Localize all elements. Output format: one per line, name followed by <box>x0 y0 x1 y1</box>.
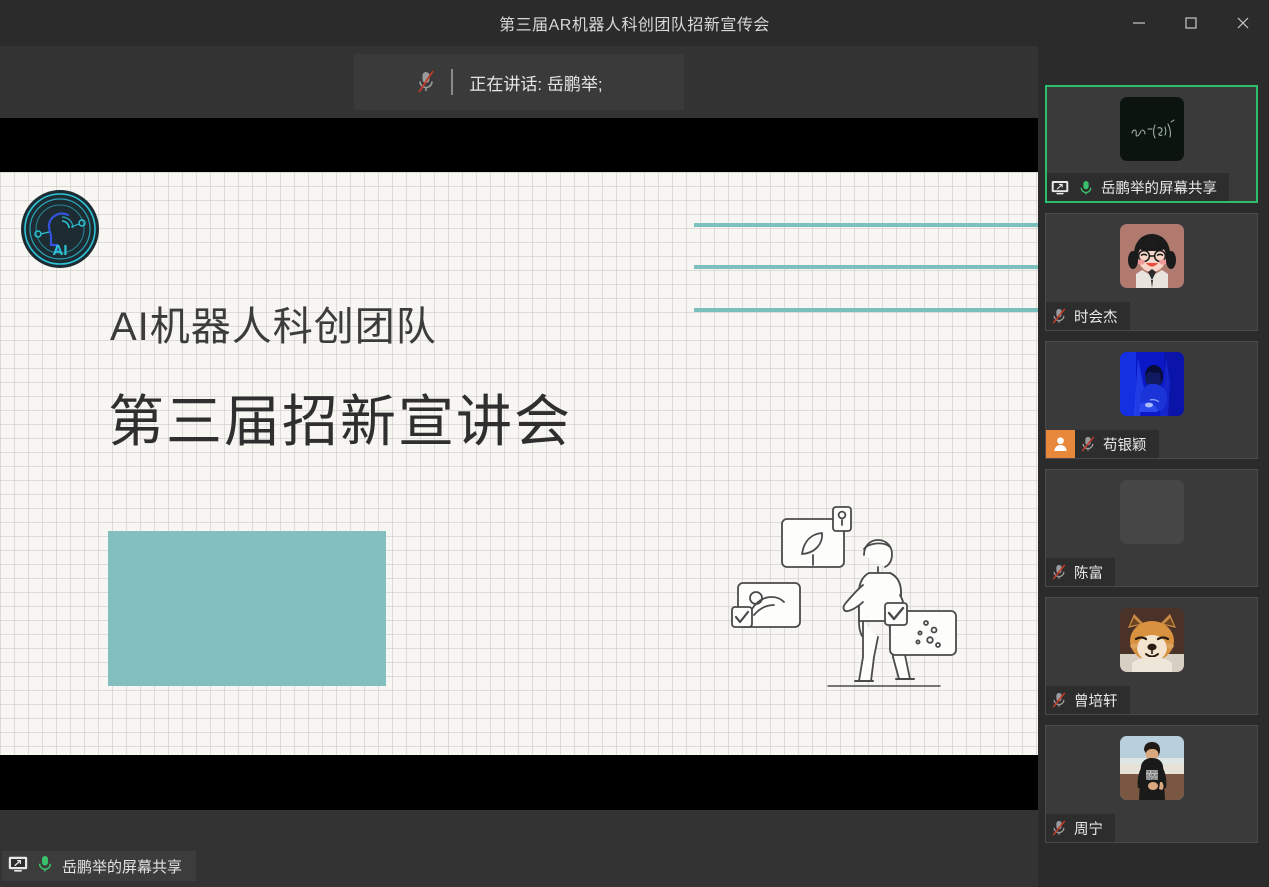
svg-text:SPEAKS: SPEAKS <box>1145 777 1159 781</box>
participant-label: 曾培轩 <box>1046 686 1130 714</box>
participant-name: 岳鹏举的屏幕共享 <box>1099 177 1217 198</box>
participant-tile-4[interactable]: 陈富 <box>1045 469 1258 587</box>
participant-tile-3[interactable]: 苟银颖 <box>1045 341 1258 459</box>
minimize-icon <box>1132 16 1146 30</box>
host-badge-icon <box>1046 430 1075 458</box>
logo-text: AI <box>53 242 68 259</box>
cartoon-girl-avatar-icon <box>1120 224 1184 288</box>
shared-screen-stage[interactable]: AI AI机器人科创团队 第三届招新宣讲会 <box>0 118 1038 810</box>
screen-share-icon <box>1047 180 1073 195</box>
decor-line-3 <box>694 308 1038 312</box>
bottom-status-bar: 岳鹏举的屏幕共享 <box>0 845 1038 887</box>
participant-name: 曾培轩 <box>1072 690 1118 711</box>
participants-sidebar[interactable]: 岳鹏举的屏幕共享 <box>1038 46 1269 887</box>
participant-name: 时会杰 <box>1072 306 1118 327</box>
window-title: 第三届AR机器人科创团队招新宣传会 <box>499 11 770 35</box>
speaking-indicator: 正在讲话: 岳鹏举; <box>354 54 684 110</box>
participant-name: 苟银颖 <box>1101 434 1147 455</box>
avatar <box>1120 608 1184 672</box>
screen-thumbnail-icon <box>1120 97 1184 161</box>
microphone-muted-icon <box>1046 563 1072 581</box>
team-logo-icon: AI <box>18 187 102 271</box>
shiba-dog-avatar-icon <box>1120 608 1184 672</box>
participant-name: 陈富 <box>1072 562 1103 583</box>
participant-tile-5[interactable]: 曾培轩 <box>1045 597 1258 715</box>
slide-heading-primary: AI机器人科创团队 <box>110 294 437 352</box>
microphone-muted-icon <box>1046 691 1072 709</box>
participant-tile-6[interactable]: WHEN WORDS FAIL MUSIC SPEAKS <box>1045 725 1258 843</box>
participant-label: 周宁 <box>1046 814 1115 842</box>
decor-line-1 <box>694 223 1038 227</box>
avatar <box>1120 352 1184 416</box>
window-controls <box>1113 0 1269 46</box>
participant-label: 陈富 <box>1046 558 1115 586</box>
close-icon <box>1236 16 1250 30</box>
microphone-muted-icon <box>415 69 437 95</box>
participant-label: 岳鹏举的屏幕共享 <box>1047 173 1229 201</box>
avatar: WHEN WORDS FAIL MUSIC SPEAKS <box>1120 736 1184 800</box>
title-bar: 第三届AR机器人科创团队招新宣传会 <box>0 0 1269 46</box>
microphone-muted-icon <box>1075 435 1101 453</box>
participant-label: 苟银颖 <box>1046 430 1159 458</box>
speaking-text: 正在讲话: 岳鹏举; <box>469 70 622 95</box>
presenter-illustration-icon <box>730 499 966 694</box>
participant-label: 时会杰 <box>1046 302 1130 330</box>
screen-share-status-chip[interactable]: 岳鹏举的屏幕共享 <box>2 851 196 881</box>
microphone-active-icon <box>1073 179 1099 196</box>
decor-line-2 <box>694 265 1038 269</box>
microphone-active-icon <box>37 854 53 878</box>
participant-name: 周宁 <box>1072 818 1103 839</box>
microphone-muted-icon <box>1046 307 1072 325</box>
avatar <box>1120 224 1184 288</box>
maximize-icon <box>1184 16 1198 30</box>
avatar <box>1120 480 1184 544</box>
participant-tile-2[interactable]: 时会杰 <box>1045 213 1258 331</box>
blue-photo-avatar-icon <box>1120 352 1184 416</box>
maximize-button[interactable] <box>1165 0 1217 46</box>
microphone-muted-icon <box>1046 819 1072 837</box>
meeting-window: 第三届AR机器人科创团队招新宣传会 <box>0 0 1269 887</box>
blank-avatar-icon <box>1120 480 1184 544</box>
divider <box>451 69 453 95</box>
avatar <box>1120 97 1184 161</box>
minimize-button[interactable] <box>1113 0 1165 46</box>
speaking-bar: 正在讲话: 岳鹏举; <box>0 46 1038 118</box>
slide-accent-block <box>108 531 386 686</box>
close-button[interactable] <box>1217 0 1269 46</box>
screen-share-status-text: 岳鹏举的屏幕共享 <box>62 856 182 877</box>
person-photo-avatar-icon: WHEN WORDS FAIL MUSIC SPEAKS <box>1120 736 1184 800</box>
slide-heading-secondary: 第三届招新宣讲会 <box>108 377 572 458</box>
screen-share-icon <box>8 856 28 877</box>
participant-tile-screen-share[interactable]: 岳鹏举的屏幕共享 <box>1045 85 1258 203</box>
presentation-slide: AI AI机器人科创团队 第三届招新宣讲会 <box>0 172 1038 755</box>
